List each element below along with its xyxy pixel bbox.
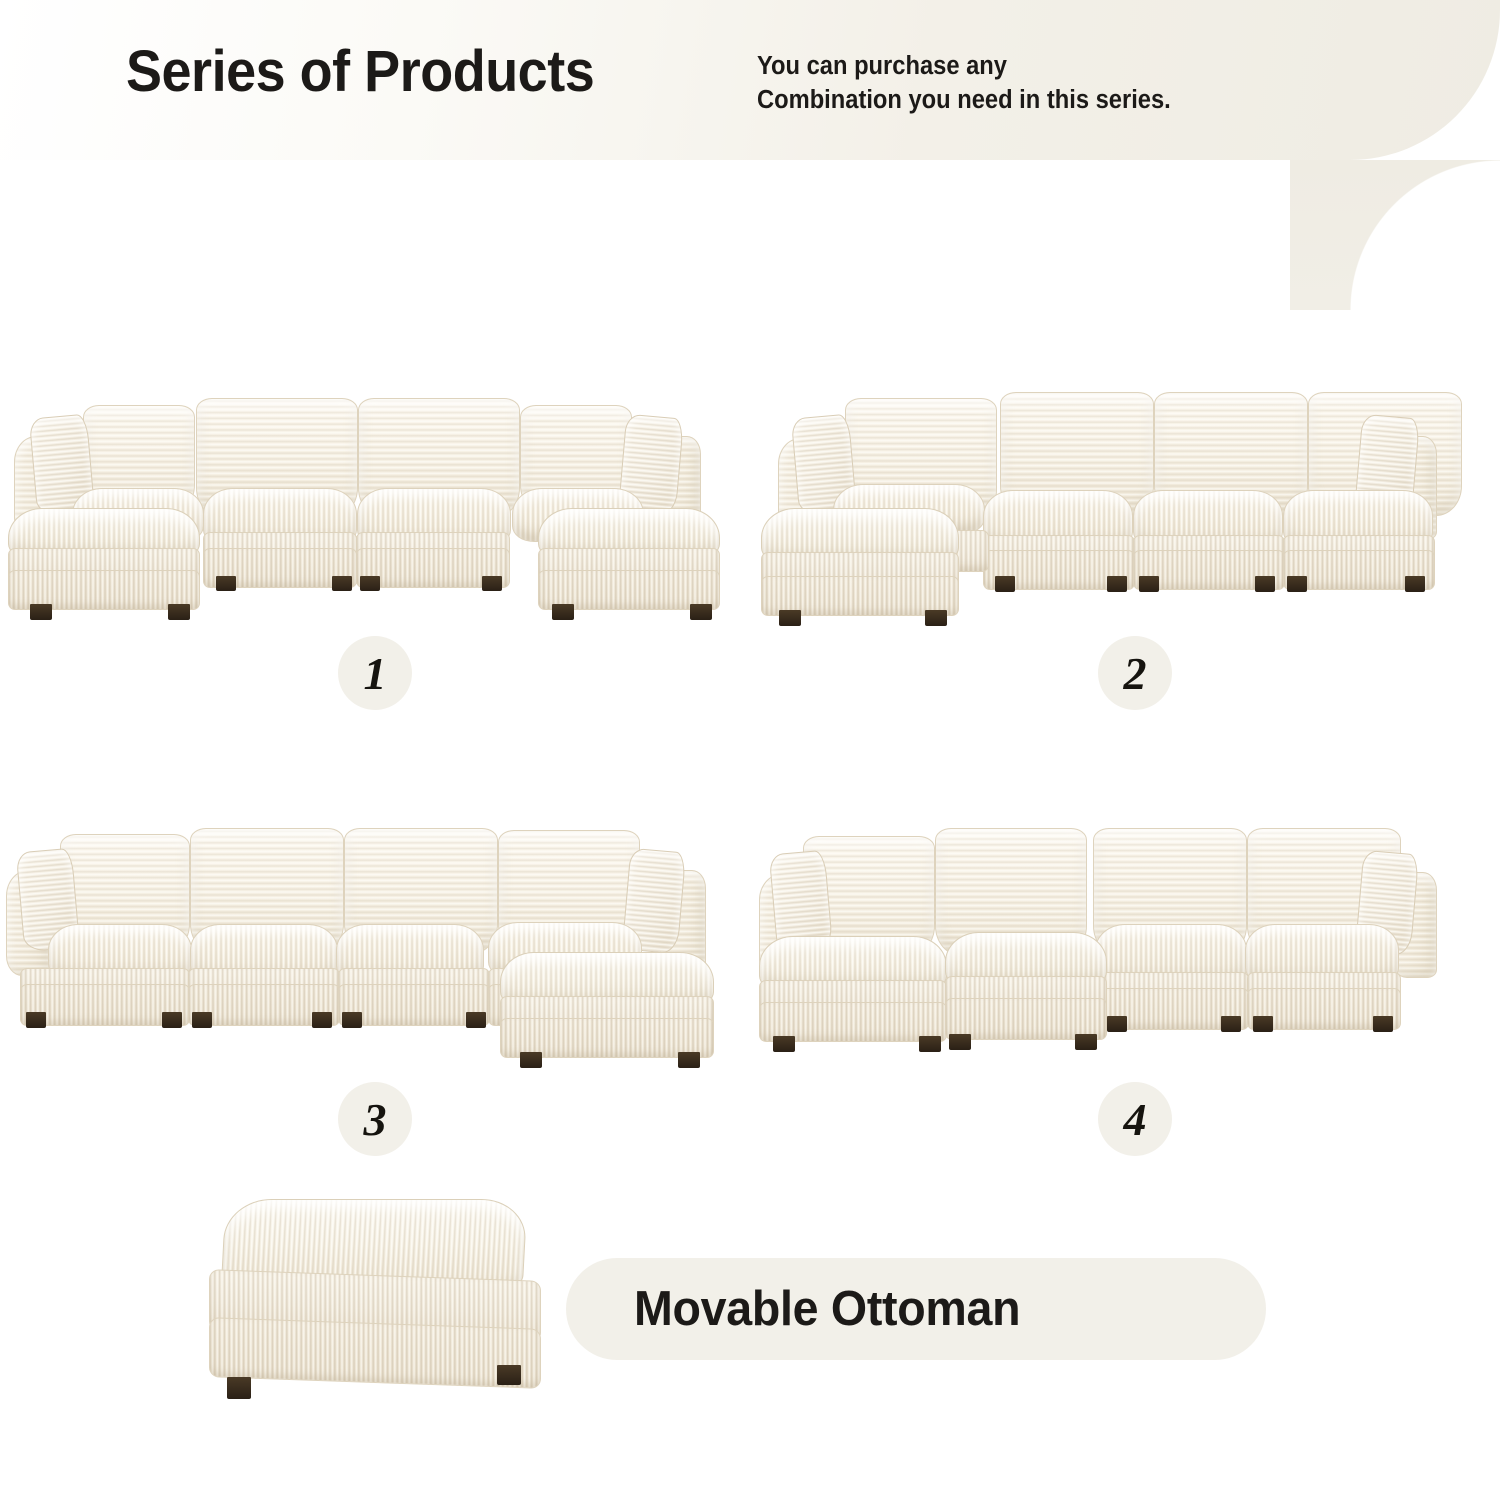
furniture-leg xyxy=(482,576,502,591)
header-subtitle-line-2: Combination you need in this series. xyxy=(757,84,1171,118)
header-subtitle-line-1: You can purchase any xyxy=(757,50,1171,84)
furniture-leg xyxy=(332,576,352,591)
furniture-leg xyxy=(1253,1016,1273,1032)
furniture-leg xyxy=(773,1036,795,1052)
movable-ottoman-banner[interactable]: Movable Ottoman xyxy=(566,1258,1266,1360)
furniture-leg xyxy=(216,576,236,591)
furniture-leg xyxy=(1107,1016,1127,1032)
movable-ottoman-figure[interactable] xyxy=(205,1195,575,1410)
furniture-leg xyxy=(949,1034,971,1050)
furniture-leg xyxy=(360,576,380,591)
header-subtitle: You can purchase any Combination you nee… xyxy=(757,50,1171,117)
furniture-leg xyxy=(30,604,52,620)
combination-4-figure[interactable] xyxy=(755,812,1455,1057)
furniture-leg xyxy=(1075,1034,1097,1050)
furniture-leg xyxy=(497,1365,521,1385)
furniture-leg xyxy=(552,604,574,620)
sofa-illustration-3 xyxy=(0,812,740,1057)
combination-badge-3[interactable]: 3 xyxy=(338,1082,412,1156)
furniture-leg xyxy=(919,1036,941,1052)
furniture-leg xyxy=(690,604,712,620)
furniture-leg xyxy=(192,1012,212,1028)
sofa-illustration-4 xyxy=(755,812,1455,1057)
furniture-leg xyxy=(1287,576,1307,592)
furniture-leg xyxy=(779,610,801,626)
combination-badge-4[interactable]: 4 xyxy=(1098,1082,1172,1156)
ottoman-lower-base xyxy=(209,1317,541,1389)
furniture-leg xyxy=(520,1052,542,1068)
furniture-leg xyxy=(162,1012,182,1028)
furniture-leg xyxy=(678,1052,700,1068)
sofa-illustration-1 xyxy=(0,380,740,620)
furniture-leg xyxy=(1373,1016,1393,1032)
furniture-leg xyxy=(312,1012,332,1028)
furniture-leg xyxy=(1221,1016,1241,1032)
furniture-leg xyxy=(925,610,947,626)
furniture-leg xyxy=(168,604,190,620)
furniture-leg xyxy=(1255,576,1275,592)
furniture-leg xyxy=(466,1012,486,1028)
furniture-leg xyxy=(227,1377,251,1399)
furniture-leg xyxy=(1107,576,1127,592)
combination-badge-2[interactable]: 2 xyxy=(1098,636,1172,710)
sofa-illustration-2 xyxy=(755,380,1455,620)
combination-2-figure[interactable] xyxy=(755,380,1455,620)
furniture-leg xyxy=(342,1012,362,1028)
furniture-leg xyxy=(1405,576,1425,592)
combination-badge-1[interactable]: 1 xyxy=(338,636,412,710)
combination-1-figure[interactable] xyxy=(0,380,740,620)
furniture-leg xyxy=(26,1012,46,1028)
page-title: Series of Products xyxy=(126,38,594,105)
combination-3-figure[interactable] xyxy=(0,812,740,1057)
movable-ottoman-label: Movable Ottoman xyxy=(634,1281,1020,1337)
furniture-leg xyxy=(995,576,1015,592)
furniture-leg xyxy=(1139,576,1159,592)
